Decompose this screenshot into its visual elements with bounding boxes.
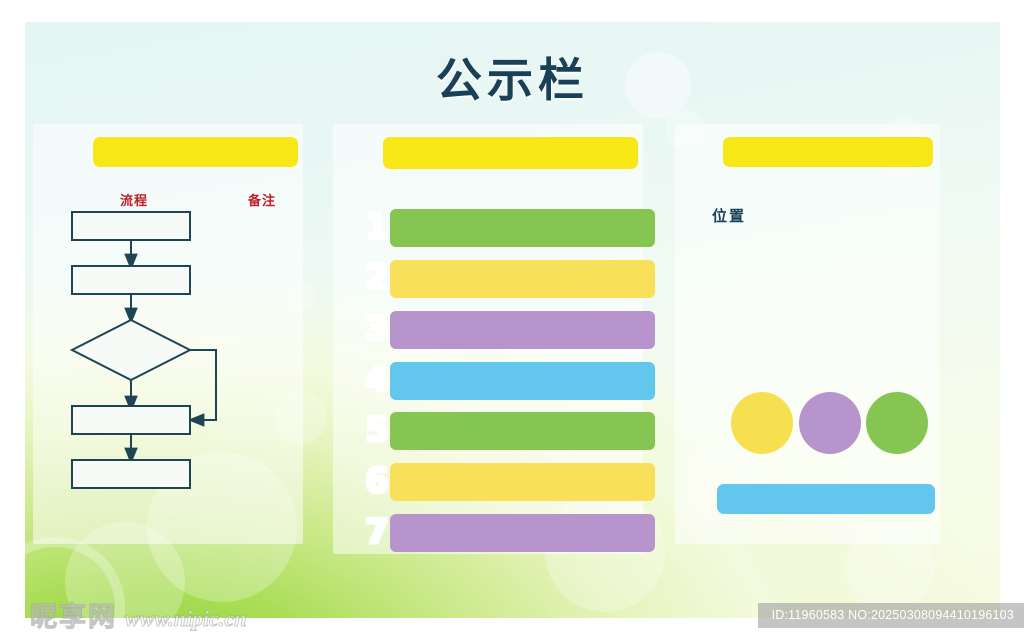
list-item-bar — [390, 463, 655, 501]
flow-node-step-1 — [72, 212, 190, 240]
list-item-bar — [390, 362, 655, 400]
list-item-bar — [390, 209, 655, 247]
list-item-number: 1 — [365, 202, 399, 252]
bokeh-ring — [25, 537, 125, 618]
dot-purple[interactable] — [799, 392, 861, 454]
list-item[interactable]: 6 — [365, 463, 655, 501]
list-item-number: 2 — [365, 253, 399, 303]
list-item-bar — [390, 412, 655, 450]
column-label-process: 流程 — [120, 190, 148, 209]
list-item-number: 4 — [365, 355, 399, 405]
list-item-number: 3 — [365, 304, 399, 354]
header-plate-right[interactable] — [723, 137, 933, 167]
flowchart — [60, 208, 245, 498]
list-item[interactable]: 7 — [365, 514, 655, 552]
flow-node-step-2 — [72, 266, 190, 294]
header-plate-left[interactable] — [93, 137, 298, 167]
dot-yellow[interactable] — [731, 392, 793, 454]
list-item-number: 7 — [365, 507, 399, 557]
column-label-remark: 备注 — [248, 190, 276, 209]
panel-right-position — [675, 124, 940, 544]
blue-bar[interactable] — [717, 484, 935, 514]
list-item-bar — [390, 311, 655, 349]
list-item-number: 5 — [365, 405, 399, 455]
flow-connector-loop — [190, 350, 216, 420]
list-item[interactable]: 1 — [365, 209, 655, 247]
list-item-number: 6 — [365, 456, 399, 506]
list-item[interactable]: 3 — [365, 311, 655, 349]
watermark-id: ID:11960583 NO:20250308094410196103 — [758, 603, 1024, 628]
flow-node-step-4 — [72, 460, 190, 488]
page-title: 公示栏 — [25, 44, 1000, 110]
list-item[interactable]: 2 — [365, 260, 655, 298]
header-plate-middle[interactable] — [383, 137, 638, 169]
flow-node-step-3 — [72, 406, 190, 434]
list-item[interactable]: 4 — [365, 362, 655, 400]
list-item-bar — [390, 260, 655, 298]
dot-green[interactable] — [866, 392, 928, 454]
list-item[interactable]: 5 — [365, 412, 655, 450]
screenshot-root: 公示栏 流程 备注 1 — [0, 0, 1024, 640]
label-position: 位置 — [712, 205, 746, 226]
flow-node-decision — [72, 320, 190, 380]
list-item-bar — [390, 514, 655, 552]
